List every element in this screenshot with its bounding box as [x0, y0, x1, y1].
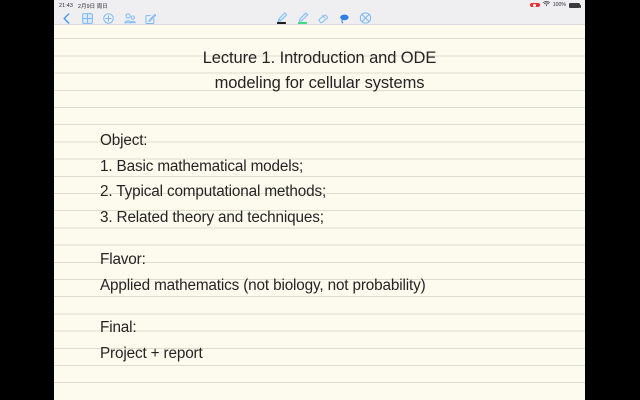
- status-time: 21:43: [59, 3, 73, 9]
- object-section: Object: 1. Basic mathematical models; 2.…: [100, 128, 326, 230]
- object-item-2: 2. Typical computational methods;: [100, 179, 326, 205]
- pen-tool[interactable]: [275, 12, 288, 25]
- flavor-section: Flavor: Applied mathematics (not biology…: [100, 247, 426, 298]
- status-bar-right: 100%: [530, 1, 580, 9]
- letterbox-left: [0, 0, 54, 400]
- screenshot-root: 21:43 2月9日 周日 100%: [0, 0, 640, 400]
- flavor-text: Applied mathematics (not biology, not pr…: [100, 273, 426, 299]
- compose-icon[interactable]: [144, 12, 157, 25]
- drawing-tools-group: [275, 11, 372, 25]
- page-title: Lecture 1. Introduction and ODE modeling…: [54, 46, 585, 96]
- object-heading: Object:: [100, 128, 326, 154]
- app-toolbar: [54, 11, 585, 25]
- recording-dot-icon: [533, 4, 536, 7]
- final-section: Final: Project + report: [100, 315, 203, 366]
- final-text: Project + report: [100, 341, 203, 367]
- ruled-note-paper[interactable]: Lecture 1. Introduction and ODE modeling…: [54, 25, 585, 400]
- object-item-1: 1. Basic mathematical models;: [100, 154, 326, 180]
- status-bar: 21:43 2月9日 周日 100%: [54, 0, 585, 11]
- status-date: 2月9日 周日: [78, 2, 108, 10]
- object-item-3: 3. Related theory and techniques;: [100, 205, 326, 231]
- eraser-tool[interactable]: [317, 12, 330, 25]
- back-button[interactable]: [60, 12, 73, 25]
- title-line-2: modeling for cellular systems: [54, 71, 585, 96]
- status-bar-left: 21:43 2月9日 周日: [59, 2, 108, 10]
- final-heading: Final:: [100, 315, 203, 341]
- lasso-tool[interactable]: [338, 12, 351, 25]
- close-circle-icon[interactable]: [359, 12, 372, 25]
- page-grid-button[interactable]: [81, 12, 94, 25]
- toolbar-left-group: [60, 11, 157, 25]
- tablet-note-page: 21:43 2月9日 周日 100%: [54, 0, 585, 400]
- slide-content: Lecture 1. Introduction and ODE modeling…: [54, 25, 585, 400]
- letterbox-right: [585, 0, 640, 400]
- pen-color-swatch: [277, 22, 286, 24]
- highlighter-tool[interactable]: [296, 12, 309, 25]
- flavor-heading: Flavor:: [100, 247, 426, 273]
- share-people-icon[interactable]: [123, 12, 136, 25]
- battery-percent-label: 100%: [553, 2, 566, 8]
- highlighter-color-swatch: [298, 22, 307, 24]
- recording-badge[interactable]: [530, 3, 540, 7]
- add-page-button[interactable]: [102, 12, 115, 25]
- battery-icon: [569, 3, 580, 9]
- title-line-1: Lecture 1. Introduction and ODE: [54, 46, 585, 71]
- wifi-icon: [543, 1, 550, 9]
